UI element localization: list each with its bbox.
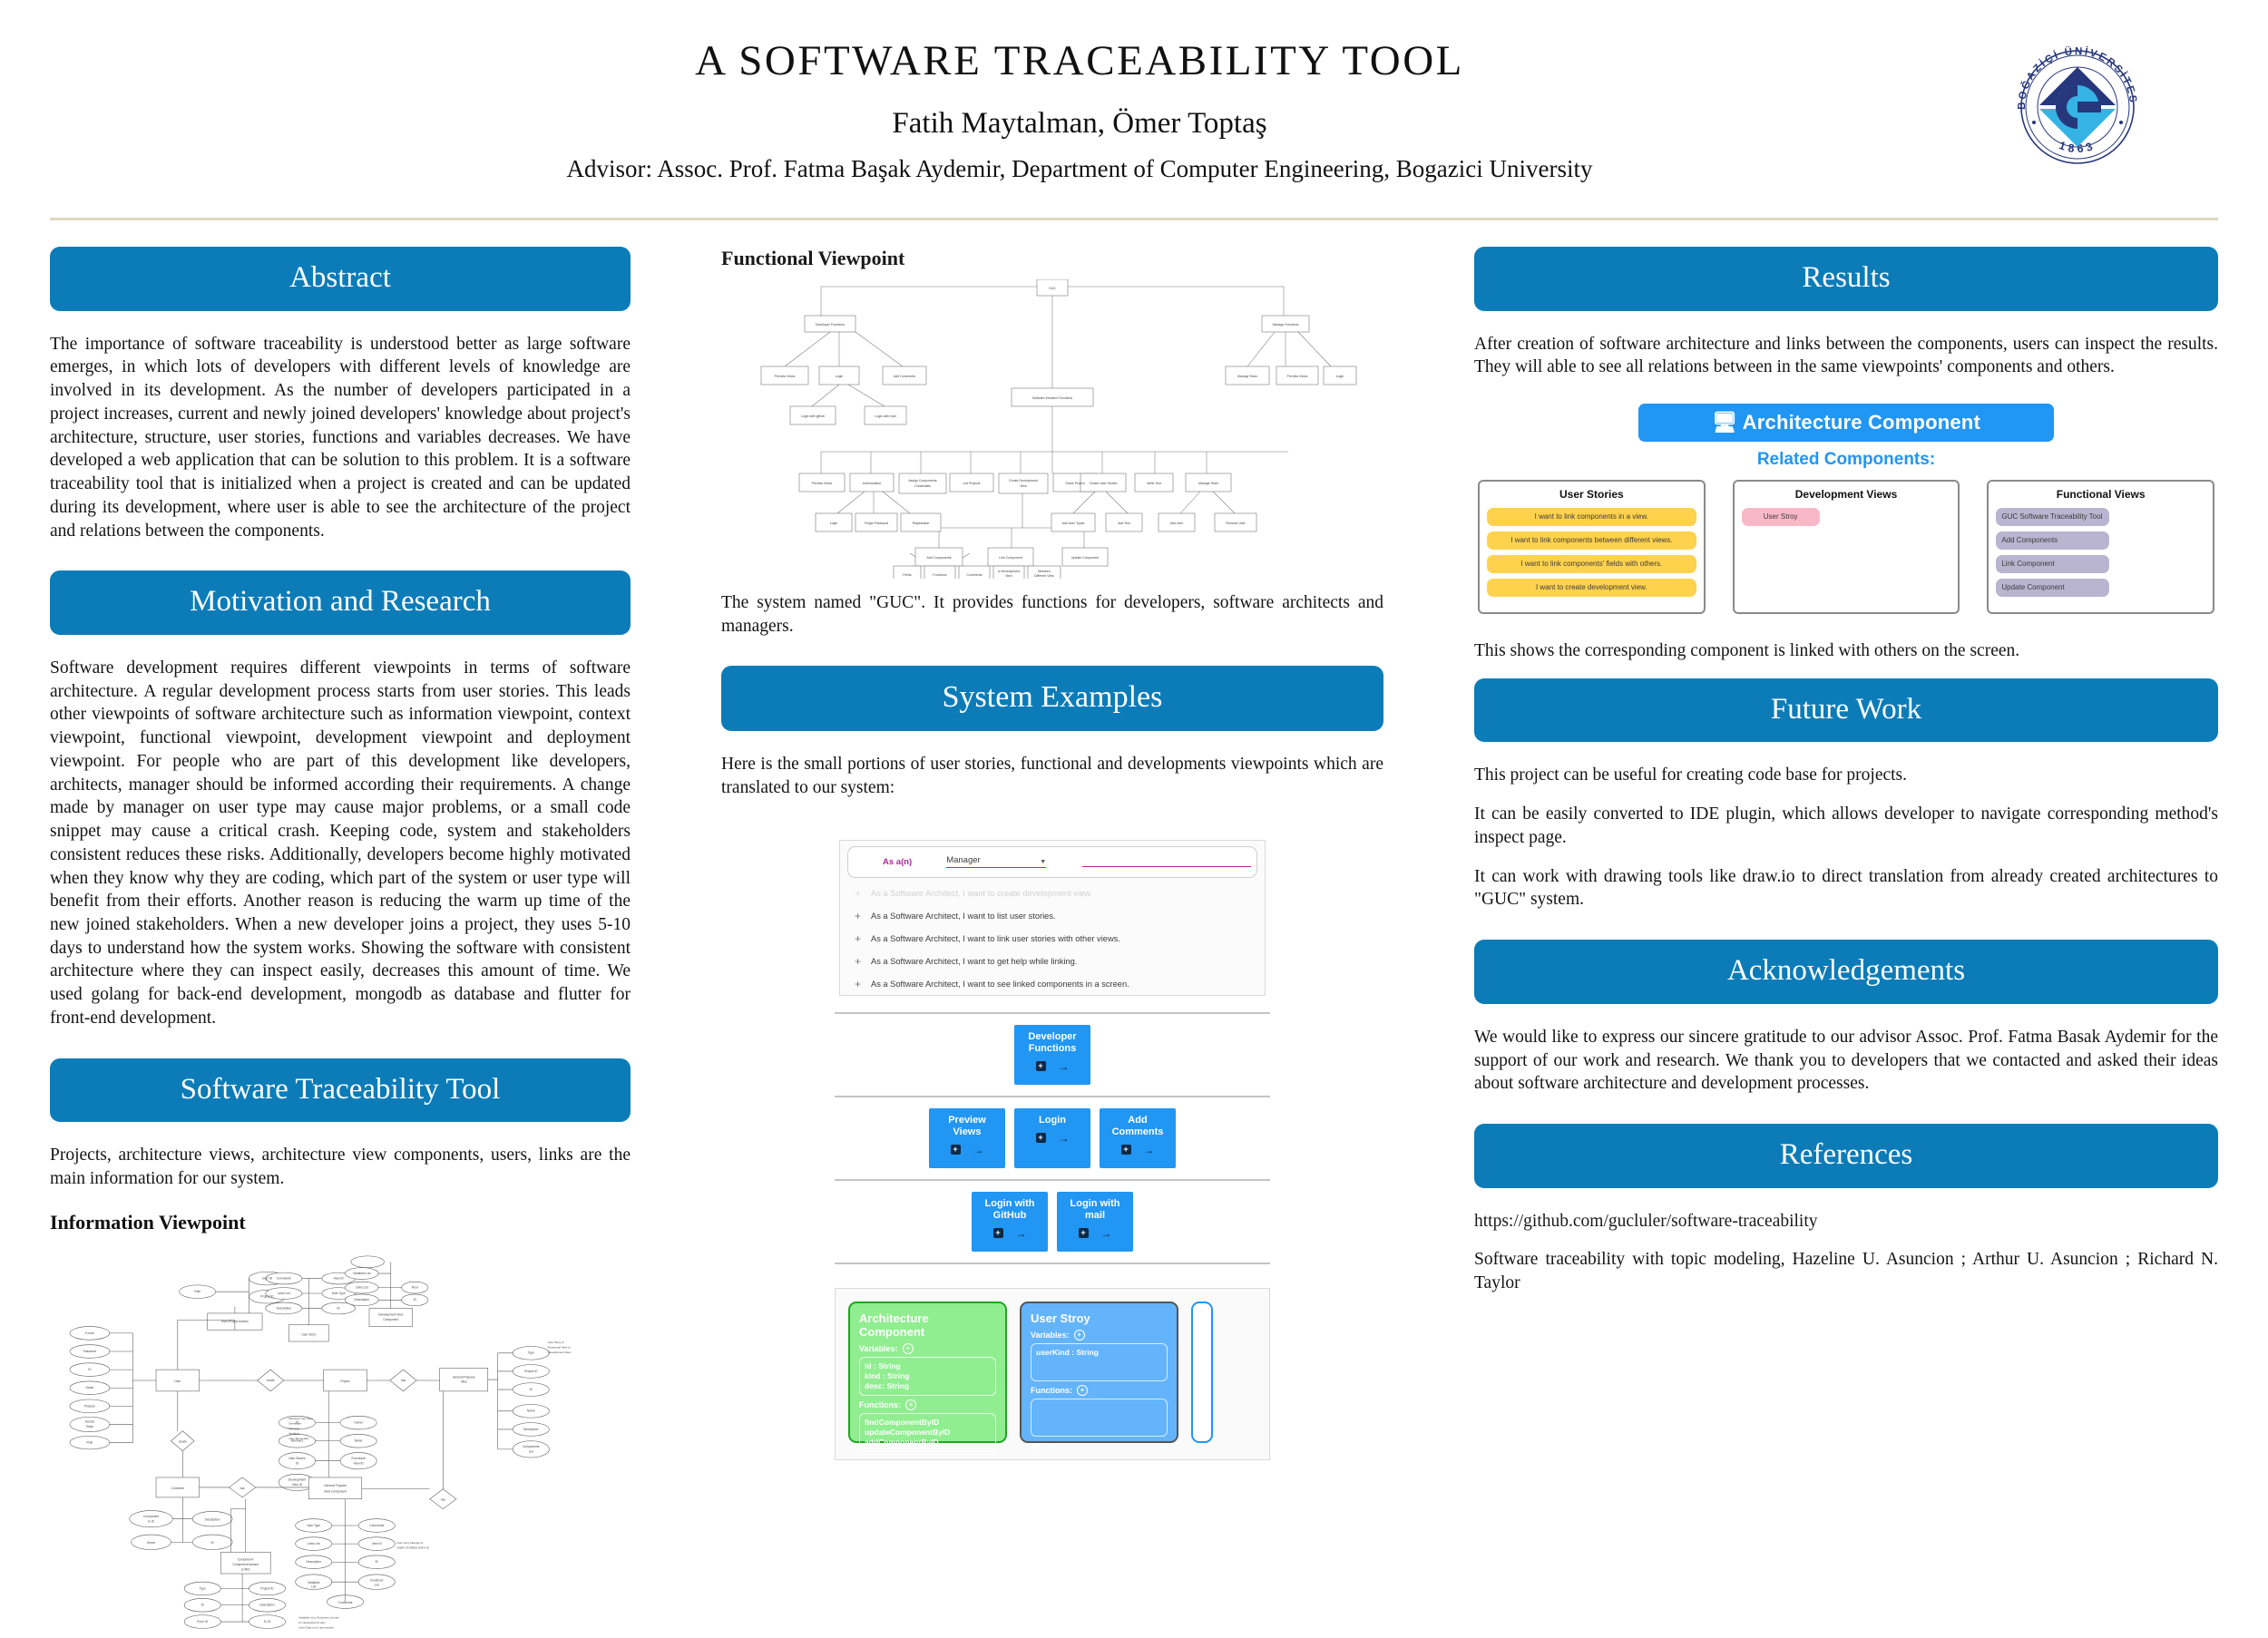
list-item[interactable]: + As a Software Architect, I want to lis… — [840, 905, 1265, 928]
function-card-label: Login — [1019, 1115, 1086, 1126]
svg-text:Manager: Manager — [288, 1427, 299, 1430]
svg-text:Links List: Links List — [356, 1285, 368, 1289]
svg-text:User Story: User Story — [302, 1332, 317, 1336]
svg-text:User Stories: User Stories — [288, 1457, 305, 1460]
svg-text:General Purpose: General Purpose — [453, 1375, 475, 1379]
svg-text:Owner: Owner — [354, 1420, 364, 1424]
add-function-icon[interactable]: + — [1077, 1385, 1088, 1396]
add-variable-icon[interactable]: + — [1074, 1330, 1085, 1341]
card-actions: + → — [1019, 1132, 1086, 1145]
architecture-component-card[interactable]: Architecture Component Variables: + id :… — [848, 1302, 1007, 1443]
panel-title: Functional Views — [1996, 488, 2205, 501]
chip-functional-view[interactable]: GUC Software Traceability Tool — [1996, 508, 2108, 526]
svg-text:Manage Team: Manage Team — [1237, 375, 1257, 378]
authors: Fatih Maytalman, Ömer Toptaş — [0, 107, 2159, 141]
university-logo: BOĞAZİÇİ ÜNİVERSİTESİ 1863 — [2005, 34, 2150, 180]
panel-user-stories: User Stories I want to link components i… — [1478, 480, 1706, 614]
motivation-text: Software development requires different … — [50, 657, 631, 1030]
user-story-list: + As a Software Architect, I want to cre… — [840, 878, 1265, 996]
function-item: addComponentByID — [865, 1438, 991, 1448]
svg-text:Description: Description — [523, 1428, 539, 1431]
title-block: A SOFTWARE TRACEABILITY TOOL Fatih Mayta… — [0, 36, 2268, 183]
related-components-panels: User Stories I want to link components i… — [1474, 480, 2218, 614]
list-item-label: As a Software Architect, I want to list … — [871, 912, 1056, 921]
svg-text:Credentials: Credentials — [914, 484, 931, 488]
results-text: After creation of software architecture … — [1474, 333, 2218, 379]
svg-text:User Story to: User Story to — [548, 1341, 564, 1344]
card-title: User Stroy — [1031, 1311, 1168, 1325]
copy-icon[interactable]: ⊞ — [859, 1457, 867, 1460]
svg-text:has: has — [240, 1487, 245, 1490]
functional-row: Preview Views + → Login + → Add Comments — [835, 1097, 1270, 1181]
svg-text:User Type is for user stories: User Type is for user stories — [298, 1625, 334, 1629]
svg-text:From ID: From ID — [197, 1620, 208, 1623]
svg-text:Password: Password — [83, 1350, 97, 1353]
monitor-icon: 🖥 — [1712, 411, 1737, 434]
svg-text:Manage Team: Manage Team — [1198, 482, 1218, 485]
svg-text:Preview Views: Preview Views — [1287, 375, 1308, 378]
add-variable-icon[interactable]: + — [903, 1343, 914, 1354]
svg-text:Preview Views: Preview Views — [775, 375, 796, 378]
functions-label-row: Functions: + — [1031, 1385, 1168, 1396]
svg-text:View: View — [1020, 484, 1027, 488]
spacer — [50, 1046, 631, 1058]
poster-header: A SOFTWARE TRACEABILITY TOOL Fatih Mayta… — [0, 0, 2268, 181]
svg-text:Link Component: Link Component — [999, 556, 1022, 560]
svg-text:Development View: Development View — [548, 1350, 572, 1354]
svg-text:View ID: View ID — [334, 1276, 345, 1280]
future-work-p2: It can be easily converted to IDE plugin… — [1474, 803, 2218, 849]
function-item: findComponentByID — [865, 1418, 991, 1428]
list-item-label: As a Software Architect, I want to see l… — [871, 980, 1129, 989]
svg-text:Share Project: Share Project — [1065, 482, 1084, 485]
reference-citation: Software traceability with topic modelin… — [1474, 1248, 2218, 1294]
plus-icon[interactable]: + — [855, 932, 871, 945]
svg-text:Description: Description — [355, 1298, 370, 1302]
card-actions: + → — [1019, 1060, 1086, 1073]
arrow-right-icon[interactable]: → — [1016, 1227, 1027, 1240]
section-header-motivation: Motivation and Research — [50, 570, 631, 635]
svg-text:Login with mail: Login with mail — [875, 414, 895, 418]
svg-text:Architect: Architect — [288, 1431, 299, 1435]
svg-text:Assign Components: Assign Components — [908, 479, 937, 483]
chip-development-view[interactable]: User Stroy — [1742, 508, 1820, 526]
variables-box: id : String kind : String desc: String — [859, 1357, 996, 1396]
function-item: updateComponentByID — [865, 1428, 991, 1438]
card-actions: + → — [934, 1144, 1001, 1156]
svg-text:Registration: Registration — [913, 522, 930, 525]
functions-label-row: Functions: + — [859, 1399, 996, 1410]
svg-text:Component-: Component- — [238, 1557, 254, 1561]
svg-text:Project ID: Project ID — [260, 1294, 274, 1298]
svg-text:Comments: Comments — [338, 1601, 353, 1604]
list-item[interactable]: + As a Software Architect, I want to cre… — [840, 882, 1265, 905]
list-item[interactable]: + As a Software Architect, I want to get… — [840, 951, 1265, 973]
svg-text:General Purpose: General Purpose — [324, 1484, 347, 1487]
svg-text:has: has — [441, 1497, 446, 1501]
function-card[interactable]: Login with GitHub + → — [972, 1192, 1048, 1252]
edit-icon[interactable]: ✎ — [875, 1457, 884, 1460]
svg-text:Login: Login — [836, 375, 844, 378]
svg-text:Login with github: Login with github — [801, 414, 825, 418]
section-header-tool: Software Traceability Tool — [50, 1058, 631, 1123]
function-card[interactable]: Developer Functions + → — [1014, 1025, 1090, 1085]
svg-text:User Type: User Type — [307, 1524, 320, 1527]
chip-functional-view[interactable]: Update Component — [1996, 579, 2108, 597]
as-a-label: As a(n) — [883, 857, 912, 867]
svg-text:User: User — [174, 1380, 181, 1383]
function-card[interactable]: Login with mail + → — [1057, 1192, 1133, 1252]
information-viewpoint-er-diagram: User-Project Actions RoleUser IDProject … — [50, 1243, 631, 1633]
svg-text:View Component: View Component — [324, 1489, 347, 1493]
acknowledgements-text: We would like to express our sincere gra… — [1474, 1026, 2218, 1096]
svg-text:E-mail: E-mail — [85, 1331, 94, 1335]
variables-label: Variables: — [859, 1344, 898, 1353]
future-work-p3: It can work with drawing tools like draw… — [1474, 865, 2218, 912]
svg-text:List: List — [311, 1584, 316, 1588]
role-select[interactable]: Manager ▼ — [946, 855, 1046, 868]
svg-text:Name: Name — [527, 1409, 535, 1412]
card-footer: ⊞ ✎ → — [1031, 1441, 1168, 1453]
svg-text:View ID: View ID — [292, 1483, 303, 1487]
svg-text:Development: Development — [288, 1477, 306, 1481]
svg-text:Comment: Comment — [171, 1487, 184, 1490]
svg-text:Variables List, Functions List: Variables List, Functions List are — [298, 1615, 339, 1619]
svg-text:Developer Functions: Developer Functions — [816, 323, 845, 327]
advisor-line: Advisor: Assoc. Prof. Fatma Başak Aydemi… — [0, 155, 2159, 183]
svg-text:to ID: to ID — [148, 1519, 155, 1523]
card-actions: + → — [1104, 1144, 1171, 1156]
svg-text:Description: Description — [205, 1517, 220, 1521]
svg-text:Functional View to: Functional View to — [548, 1345, 572, 1349]
list-item-label: As a Software Architect, I want to get h… — [871, 957, 1077, 966]
svg-text:View ID: View ID — [353, 1461, 364, 1465]
subheading-information-viewpoint: Information Viewpoint — [50, 1211, 631, 1234]
variables-label: Variables: — [1031, 1331, 1070, 1340]
add-icon[interactable]: + — [951, 1145, 961, 1155]
plus-icon[interactable]: + — [855, 978, 871, 990]
add-function-icon[interactable]: + — [905, 1399, 916, 1410]
variable-item: id : String — [865, 1361, 991, 1371]
section-header-future-work: Future Work — [1474, 678, 2218, 743]
svg-text:Name: Name — [355, 1438, 363, 1442]
svg-text:has: has — [401, 1379, 406, 1382]
card-actions: + → — [1061, 1227, 1129, 1240]
function-card-label: Developer Functions — [1019, 1031, 1086, 1055]
add-icon[interactable]: + — [1036, 1061, 1046, 1071]
variables-label-row: Variables: + — [1031, 1330, 1168, 1341]
svg-text:Preview Views: Preview Views — [812, 482, 833, 485]
section-header-references: References — [1474, 1124, 2218, 1188]
svg-text:Project: Project — [340, 1380, 349, 1383]
variable-item: desc: String — [865, 1381, 991, 1391]
svg-text:Members has roles: Members has roles — [288, 1417, 313, 1420]
functions-label: Functions: — [1031, 1386, 1072, 1395]
svg-text:Between: Between — [1038, 570, 1051, 573]
architecture-component-label: Architecture Component — [1743, 411, 1980, 434]
svg-text:Variables: Variables — [308, 1581, 320, 1584]
list-item-label: As a Software Architect, I want to creat… — [871, 889, 1092, 898]
plus-icon[interactable]: + — [855, 955, 871, 968]
tree-caption: The system named "GUC". It provides func… — [721, 591, 1383, 638]
functions-box: findComponentByID updateComponentByID ad… — [859, 1413, 996, 1452]
section-header-acknowledgements: Acknowledgements — [1474, 940, 2218, 1004]
svg-text:Login: Login — [1336, 375, 1344, 378]
svg-text:Component: Component — [143, 1515, 159, 1518]
add-icon[interactable]: + — [1079, 1228, 1089, 1238]
svg-text:Components: Components — [523, 1445, 540, 1448]
svg-text:Add User Types: Add User Types — [1062, 522, 1085, 525]
subheading-functional-viewpoint: Functional Viewpoint — [721, 247, 1383, 270]
plus-icon[interactable]: + — [855, 910, 871, 922]
arrow-right-icon[interactable]: → — [986, 1457, 996, 1459]
svg-text:Login: Login — [830, 522, 838, 525]
role-select-value: Manager — [946, 855, 981, 865]
arrow-right-icon[interactable]: → — [1059, 1060, 1070, 1073]
list-item-label: As a Software Architect, I want to link … — [871, 934, 1120, 943]
svg-text:Type: Type — [200, 1586, 206, 1590]
functional-row: Developer Functions + → — [835, 1012, 1270, 1097]
svg-text:Forget Password: Forget Password — [865, 522, 889, 525]
plus-icon[interactable]: + — [855, 887, 871, 900]
svg-text:List Projects: List Projects — [963, 482, 980, 485]
svg-text:USER STORIES WITH ID: USER STORIES WITH ID — [396, 1545, 429, 1549]
svg-text:Add Test: Add Test — [1118, 522, 1130, 525]
svg-text:Write Test: Write Test — [1147, 482, 1160, 485]
functional-viewpoint-tree: GUC Developer Functions Software Archite… — [721, 279, 1383, 579]
svg-text:Root: Root — [412, 1285, 418, 1289]
svg-text:Role: Role — [194, 1290, 200, 1293]
section-header-system-examples: System Examples — [721, 666, 1383, 731]
svg-text:Description: Description — [277, 1306, 292, 1310]
svg-text:Links List: Links List — [308, 1542, 320, 1545]
svg-text:(LINK): (LINK) — [241, 1567, 249, 1571]
edit-icon[interactable]: ✎ — [1047, 1441, 1055, 1453]
poster-columns: Abstract The importance of software trac… — [0, 247, 2268, 1633]
svg-text:Manage Functions: Manage Functions — [1273, 323, 1299, 327]
spacer — [721, 653, 1383, 666]
svg-text:Functional: Functional — [352, 1457, 366, 1460]
panel-functional-views: Functional Views GUC Software Traceabili… — [1987, 480, 2214, 614]
page-title: A SOFTWARE TRACEABILITY TOOL — [0, 36, 2159, 85]
chip-functional-view[interactable]: Link Component — [1996, 555, 2108, 573]
panel-title: User Stories — [1487, 488, 1696, 501]
arrow-right-icon[interactable]: → — [1144, 1144, 1155, 1156]
svg-text:Comments: Comments — [369, 1524, 384, 1527]
middle-column: Functional Viewpoint — [685, 247, 1420, 1633]
svg-text:User Type: User Type — [332, 1292, 346, 1295]
svg-text:Component: Component — [383, 1318, 398, 1321]
variables-box: userKind : String — [1031, 1343, 1168, 1381]
svg-text:Project ID: Project ID — [260, 1586, 274, 1590]
function-card-label: Preview Views — [934, 1115, 1001, 1138]
svg-text:User story belongs to: User story belongs to — [396, 1541, 424, 1545]
header-divider — [50, 218, 2218, 220]
svg-text:Add Components: Add Components — [926, 556, 951, 560]
variable-item: userKind : String — [1036, 1348, 1162, 1358]
user-story-card[interactable]: User Stroy Variables: + userKind : Strin… — [1020, 1302, 1178, 1443]
system-examples-text: Here is the small portions of user stori… — [721, 753, 1383, 799]
svg-text:In Development: In Development — [998, 570, 1021, 573]
svg-text:Owner: Owner — [147, 1541, 157, 1545]
svg-text:Role: Role — [87, 1440, 93, 1444]
svg-text:for development view: for development view — [298, 1621, 326, 1624]
copy-icon[interactable]: ⊞ — [1031, 1441, 1039, 1453]
functional-chip-grid: GUC Software Traceability Tool Add Compo… — [1996, 508, 2205, 597]
future-work-p1: This project can be useful for creating … — [1474, 764, 2218, 787]
svg-text:Authorization: Authorization — [863, 482, 881, 485]
add-icon[interactable]: + — [993, 1228, 1003, 1238]
add-icon[interactable]: + — [1121, 1145, 1131, 1155]
right-column: Results After creation of software archi… — [1420, 247, 2218, 1633]
list-item[interactable]: + As a Software Architect, I want to lin… — [840, 928, 1265, 951]
development-viewpoint-screenshot[interactable]: Architecture Component Variables: + id :… — [835, 1288, 1270, 1460]
chevron-down-icon: ▼ — [1040, 859, 1046, 865]
arrow-right-icon[interactable]: → — [1101, 1227, 1112, 1240]
svg-text:View: View — [1005, 574, 1012, 578]
svg-text:Different View: Different View — [1034, 574, 1054, 578]
results-caption: This shows the corresponding component i… — [1474, 639, 2218, 663]
svg-text:Variables List: Variables List — [353, 1272, 371, 1275]
arrow-right-icon[interactable]: → — [973, 1144, 984, 1156]
arrow-right-icon[interactable]: → — [1158, 1441, 1168, 1452]
panel-development-views: Development Views User Stroy — [1733, 480, 1960, 614]
variables-label-row: Variables: + — [859, 1343, 996, 1354]
arrow-right-icon[interactable]: → — [1059, 1132, 1070, 1145]
svg-text:List: List — [529, 1449, 533, 1453]
story-text-input[interactable] — [1082, 853, 1251, 867]
svg-text:Token: Token — [86, 1425, 94, 1428]
card-footer: ⊞ ✎ → — [859, 1457, 996, 1460]
function-card-label: Login with GitHub — [976, 1198, 1043, 1222]
user-story-form-bar[interactable]: As a(n) Manager ▼ — [847, 846, 1257, 878]
function-card[interactable]: Preview Views + → — [929, 1108, 1005, 1168]
svg-text:Development View: Development View — [378, 1312, 404, 1316]
svg-text:Access: Access — [85, 1419, 95, 1423]
chip-user-story[interactable]: I want to link components between differ… — [1487, 531, 1696, 550]
spacer — [50, 558, 631, 570]
svg-text:View ID: View ID — [372, 1542, 383, 1545]
svg-text:To ID: To ID — [264, 1620, 271, 1623]
abstract-text: The importance of software traceability … — [50, 333, 631, 543]
list-item[interactable]: + As a Software Architect, I want to see… — [840, 973, 1265, 996]
svg-text:Create User Stories: Create User Stories — [1090, 482, 1118, 485]
svg-text:Update Component: Update Component — [1071, 556, 1099, 560]
tool-text: Projects, architecture views, architectu… — [50, 1144, 631, 1190]
svg-text:Projects: Projects — [84, 1404, 95, 1408]
svg-text:Type: Type — [528, 1350, 534, 1354]
svg-text:create: create — [267, 1379, 275, 1382]
variable-item: kind : String — [865, 1371, 991, 1381]
svg-text:create: create — [179, 1439, 187, 1443]
chip-functional-view[interactable]: Add Components — [1996, 531, 2108, 550]
functional-row: Login with GitHub + → Login with mail + … — [835, 1181, 1270, 1264]
svg-text:List: List — [375, 1583, 379, 1586]
chip-user-story[interactable]: I want to link components in a view. — [1487, 508, 1696, 526]
svg-text:Add Comments: Add Comments — [894, 375, 915, 378]
function-card-label: Add Comments — [1104, 1115, 1171, 1138]
function-card[interactable]: Add Comments + → — [1100, 1108, 1176, 1168]
svg-text:Project ID: Project ID — [524, 1370, 538, 1373]
svg-text:View: View — [461, 1380, 468, 1383]
svg-text:Create Development: Create Development — [1009, 479, 1038, 483]
spacer — [1474, 1111, 2218, 1124]
add-icon[interactable]: + — [1036, 1133, 1046, 1143]
svg-text:Fields: Fields — [903, 573, 912, 577]
results-screenshot[interactable]: 🖥 Architecture Component Related Compone… — [1474, 395, 2218, 627]
architecture-component-button[interactable]: 🖥 Architecture Component — [1638, 404, 2054, 442]
functional-viewpoint-screenshot[interactable]: Developer Functions + → Preview Views + … — [835, 1012, 1270, 1264]
svg-text:Description: Description — [307, 1560, 322, 1564]
svg-text:User ID needed: User ID needed — [288, 1437, 308, 1440]
svg-text:Remove User: Remove User — [1226, 522, 1246, 525]
svg-text:Component Actions: Component Actions — [233, 1563, 259, 1566]
chip-user-story[interactable]: I want to create development view. — [1487, 579, 1696, 597]
svg-text:Comments: Comments — [277, 1276, 291, 1280]
svg-text:Functions: Functions — [933, 573, 946, 577]
svg-text:Developer: Developer — [288, 1421, 301, 1425]
section-header-results: Results — [1474, 247, 2218, 311]
svg-text:GUC: GUC — [1049, 287, 1056, 290]
related-components-title: Related Components: — [1474, 450, 2218, 470]
svg-text:Comments: Comments — [967, 573, 982, 577]
svg-text:Add User: Add User — [1170, 522, 1184, 525]
function-card[interactable]: Login + → — [1014, 1108, 1090, 1168]
svg-text:User-Project Actions: User-Project Actions — [221, 1320, 249, 1323]
left-column: Abstract The importance of software trac… — [50, 247, 685, 1633]
svg-text:User ID: User ID — [262, 1276, 273, 1280]
section-header-abstract: Abstract — [50, 247, 631, 311]
svg-text:Links List: Links List — [278, 1292, 290, 1295]
spacer — [1474, 927, 2218, 940]
svg-text:Software Architect Functions: Software Architect Functions — [1032, 396, 1073, 400]
svg-text:Description: Description — [259, 1603, 275, 1606]
empty-component-card[interactable] — [1191, 1302, 1213, 1443]
svg-text:Name: Name — [86, 1386, 94, 1389]
card-title: Architecture Component — [859, 1311, 996, 1339]
functions-box — [1031, 1399, 1168, 1437]
function-card-label: Login with mail — [1061, 1198, 1129, 1222]
card-actions: + → — [976, 1227, 1043, 1240]
functions-label: Functions: — [859, 1400, 901, 1409]
chip-user-story[interactable]: I want to link components' fields with o… — [1487, 555, 1696, 573]
user-stories-screenshot[interactable]: As a(n) Manager ▼ + As a Software Archit… — [839, 840, 1266, 996]
reference-link[interactable]: https://github.com/gucluler/software-tra… — [1474, 1210, 2218, 1233]
panel-title: Development Views — [1742, 488, 1951, 501]
svg-text:Functions: Functions — [370, 1578, 384, 1582]
